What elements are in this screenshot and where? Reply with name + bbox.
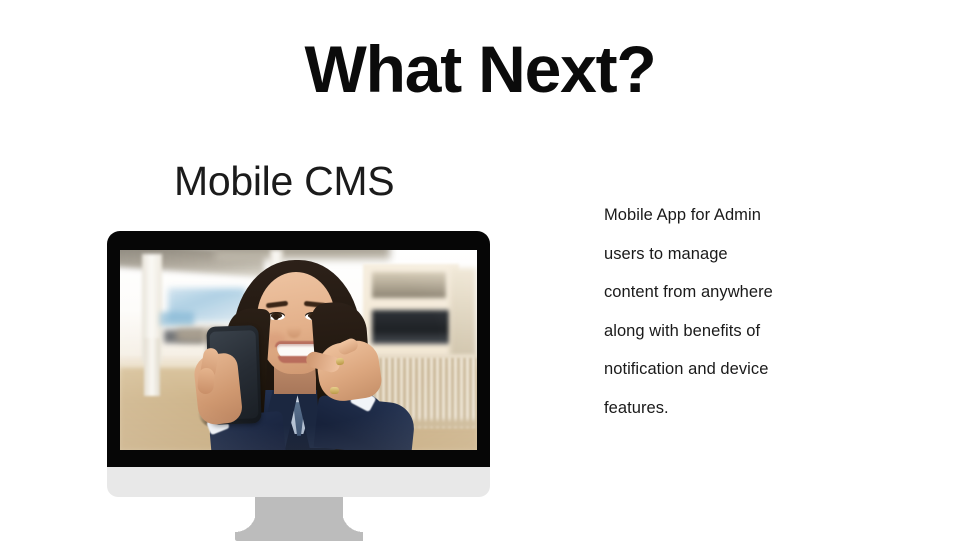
- desktop-monitor-mockup: [107, 231, 490, 541]
- monitor-stand: [255, 497, 343, 541]
- section-subtitle: Mobile CMS: [174, 158, 394, 205]
- monitor-screen: [120, 250, 477, 450]
- body-paragraph-line: along with benefits of: [604, 312, 848, 351]
- body-paragraph: Mobile App for Adminusers to manageconte…: [604, 196, 848, 428]
- body-paragraph-line: users to manage: [604, 235, 848, 274]
- screen-photo-woman-with-phone: [120, 250, 477, 450]
- slide-canvas: What Next? Mobile CMS: [0, 0, 960, 540]
- photo-vignette: [120, 250, 477, 450]
- body-paragraph-line: features.: [604, 389, 848, 428]
- page-title: What Next?: [0, 36, 960, 102]
- body-paragraph-line: notification and device: [604, 350, 848, 389]
- monitor-chin: [107, 467, 490, 497]
- body-paragraph-line: Mobile App for Admin: [604, 196, 848, 235]
- body-paragraph-line: content from anywhere: [604, 273, 848, 312]
